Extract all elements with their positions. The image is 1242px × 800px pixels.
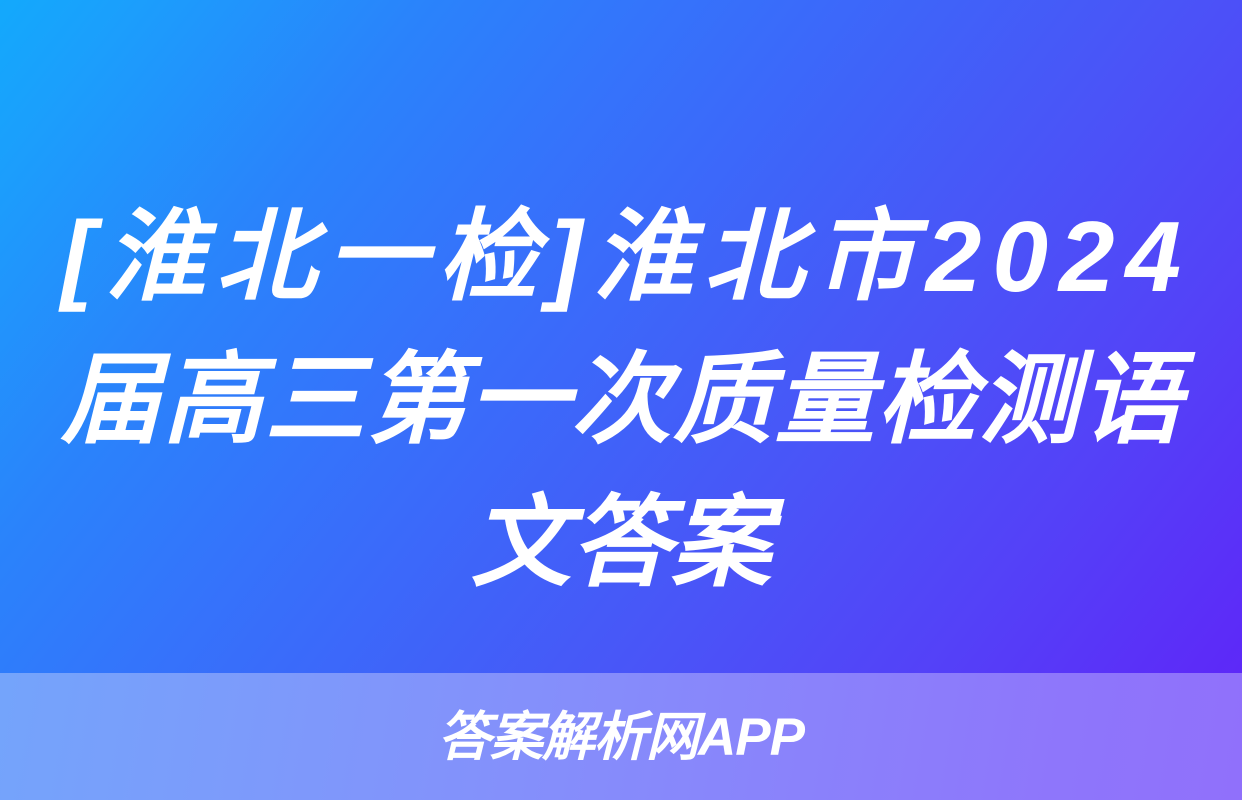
watermark-bar: 答案解析网APP — [0, 673, 1242, 800]
title-char: 淮 — [593, 186, 693, 329]
title-char: 语 — [1081, 329, 1181, 472]
title-char: [ — [61, 186, 94, 329]
title-char: 检 — [438, 186, 538, 329]
title-char: 量 — [775, 329, 875, 472]
title-char: 2 — [1059, 186, 1115, 329]
title-char: 淮 — [105, 186, 205, 329]
title-char: 检 — [877, 329, 977, 472]
title-char: 高 — [163, 329, 263, 472]
title-char: ] — [549, 186, 582, 329]
title-char: 2 — [926, 186, 982, 329]
title-char: 北 — [216, 186, 316, 329]
title-char: 测 — [979, 329, 1079, 472]
poster-canvas: [ 淮 北 一 检 ] 淮 北 市 2 0 2 4 届 高 三 第 一 次 质 … — [0, 0, 1242, 800]
title-line-3: 文答案 — [61, 472, 1181, 615]
title-char: 4 — [1125, 186, 1181, 329]
title-char: 北 — [704, 186, 804, 329]
page-title: [ 淮 北 一 检 ] 淮 北 市 2 0 2 4 届 高 三 第 一 次 质 … — [61, 186, 1181, 615]
title-line-1: [ 淮 北 一 检 ] 淮 北 市 2 0 2 4 — [61, 186, 1181, 329]
title-char: 一 — [327, 186, 427, 329]
title-char: 0 — [992, 186, 1048, 329]
title-char: 次 — [571, 329, 671, 472]
title-char: 第 — [367, 329, 467, 472]
title-char: 一 — [469, 329, 569, 472]
title-line-2: 届 高 三 第 一 次 质 量 检 测 语 — [61, 329, 1181, 472]
watermark-label: 答案解析网APP — [438, 711, 804, 764]
title-char: 届 — [61, 329, 161, 472]
title-char: 市 — [815, 186, 915, 329]
title-char: 三 — [265, 329, 365, 472]
title-char: 质 — [673, 329, 773, 472]
